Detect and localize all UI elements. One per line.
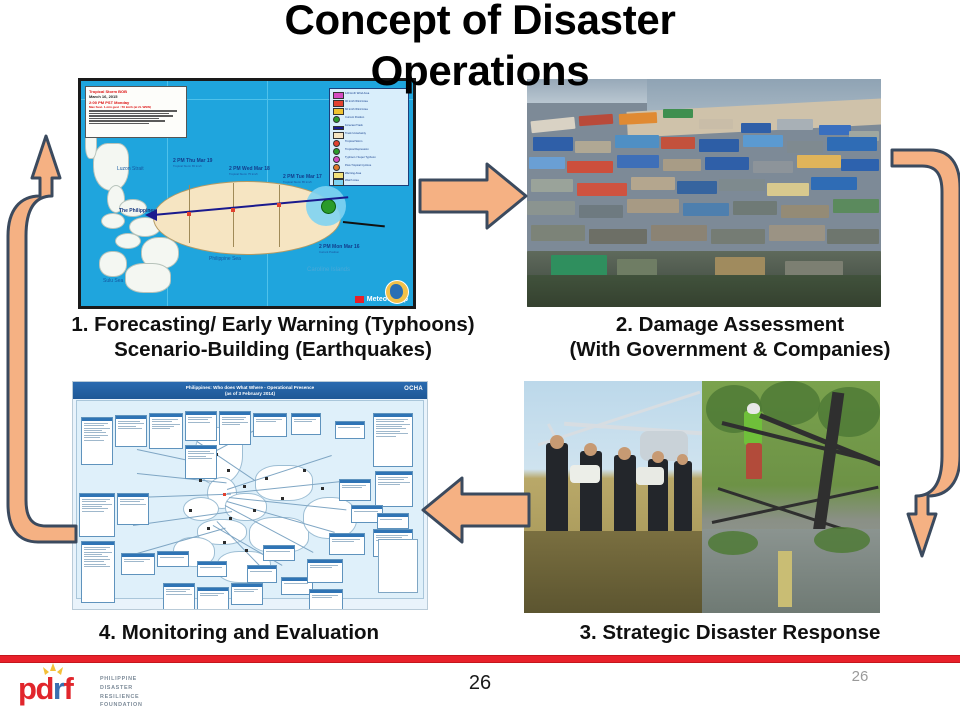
forecast-label-tue: 2 PM Tue Mar 17 Tropical Storm 85 km/h [283,175,322,184]
infographic-box [253,413,287,437]
infographic-box [117,493,149,525]
map-landmass [99,251,127,277]
legend-label: Track Uncertainty [345,132,366,135]
caption-strategic-response: 3. Strategic Disaster Response [520,621,940,646]
relief-sack [636,467,664,485]
legend-label: Tropical Depression [345,148,369,151]
tree-debris [814,527,870,553]
photo-roof [699,139,739,152]
legend-label: Current Position [345,116,364,119]
infographic-box [373,413,413,467]
infographic-box [185,411,217,441]
photo-debris [827,229,879,244]
infographic-box [197,587,229,610]
photo-roof [615,135,659,148]
cone-divider [233,183,234,247]
helicopter-relief-photo [524,381,702,613]
infographic-box [375,471,413,507]
photo-roof [619,112,658,125]
map-node [199,479,202,482]
meteogroup-globe-icon [385,280,409,304]
relief-worker-head [550,435,564,449]
infographic-box [307,559,343,583]
relief-worker [614,455,636,535]
forecast-map-image: 2 PM Thu Mar 19 Tropical Storm 65 km/h 2… [78,78,416,309]
geo-label-philippines: The Philippines [119,209,156,215]
relief-worker-head [652,451,664,463]
map-landmass [101,213,125,229]
infographic-box [163,583,195,610]
legend-label: Post-Tropical Cyclone [345,164,371,167]
infographic-box [81,541,115,603]
logo-subtitle-line-4: FOUNDATION [100,701,143,710]
forecast-label-mon: 2 PM Mon Mar 16 Current Position [319,245,360,254]
map-legend: 120 km/h Wind Area 90 km/h Wind Area 60 … [329,88,409,186]
page-title-line-1: Concept of Disaster [0,0,960,45]
map-node [243,485,246,488]
photo-roof [797,155,841,168]
infographic-box [329,533,365,555]
map-landmass [125,263,171,293]
footer-divider [0,655,960,663]
caption-line-1: 2. Damage Assessment [520,313,940,338]
photo-roof [631,177,675,190]
photo-roof [811,177,857,190]
infographic-box [309,589,343,610]
relief-worker-head [618,447,631,460]
photo-roof [733,201,777,215]
relief-worker [546,443,568,535]
caption-forecasting: 1. Forecasting/ Early Warning (Typhoons)… [28,313,518,362]
photo-roof [531,179,573,192]
photo-roof [833,199,879,213]
relief-sack [570,465,600,483]
cone-divider [279,185,280,247]
photo-roof [719,179,765,191]
infographic-box [219,411,251,445]
tree-debris [708,531,758,555]
infographic-box [79,493,115,537]
relief-worker-head [584,443,597,456]
photo-roof [677,181,717,194]
lineman-helmet [747,403,760,414]
photo-roof [743,135,783,147]
legend-label: Forecast Track [345,124,363,127]
legend-label: Tropical Storm [345,140,362,143]
map-node [303,469,306,472]
infographic-box [263,545,295,561]
photo-roof [753,161,793,173]
track-position-tick [277,203,281,207]
map-node [207,527,210,530]
infographic-box [149,413,183,449]
map-node [223,541,226,544]
infographic-header-line-2: (as of 3 February 2014) [73,391,427,397]
photo-roof [699,119,733,129]
infographic-box [377,513,409,529]
map-landmass [115,233,141,249]
legend-label: Typhoon / Super Typhoon [345,156,376,159]
infographic-box [157,551,189,567]
infographic-canvas [76,400,424,599]
infographic-box [185,445,217,479]
arrow-response-to-monitoring [420,472,532,548]
slide-canvas: Concept of Disaster Operations [0,0,960,720]
damage-assessment-image [527,79,881,307]
map-node [229,517,232,520]
map-node-highlight [223,493,226,496]
photo-roof [767,183,809,196]
photo-debris [769,225,825,241]
relief-worker [580,451,602,537]
caption-damage-assessment: 2. Damage Assessment (With Government & … [520,313,940,362]
infographic-box [291,413,321,435]
ocha-logo: OCHA [404,386,423,394]
photo-roof [527,201,575,215]
infographic-header: Philippines: Who does What Where - Opera… [73,382,427,399]
road-marking [778,551,792,607]
lineman-legs [746,443,762,479]
disaster-response-image [524,381,880,613]
map-node [321,487,324,490]
power-line-clearing-photo [702,381,880,613]
photo-roof [663,109,693,118]
page-number-right: 26 [830,668,890,685]
ground [524,531,702,613]
geo-label-luzon-strait: Luzon Strait [117,167,144,173]
infographic-box [197,561,227,577]
infographic-box [247,565,277,583]
photo-roof [567,161,613,173]
meteogroup-logo-mark [355,296,364,303]
infographic-box [115,415,147,447]
geo-label-caroline-islands: Caroline Islands [307,267,350,274]
geo-label-sulu-sea: Sulu Sea [103,279,123,285]
infographic-box [81,417,113,465]
map-node [281,497,284,500]
photo-roof [577,183,627,196]
relief-worker [674,461,692,531]
caption-line-2: (With Government & Companies) [520,338,940,363]
map-node [253,509,256,512]
legend-label: Watch Area [345,179,359,182]
monitoring-map-image: Philippines: Who does What Where - Opera… [72,381,428,610]
caption-line-1: 4. Monitoring and Evaluation [34,621,444,646]
photo-roof [579,205,623,218]
page-title: Concept of Disaster Operations [0,0,960,96]
photo-roof [683,203,729,216]
infographic-box [339,479,371,501]
photo-roof [663,159,701,171]
photo-roof [741,123,771,133]
caption-line-1: 1. Forecasting/ Early Warning (Typhoons) [28,313,518,338]
infographic-box [121,553,155,575]
photo-vegetation [527,275,881,307]
infographic-inset-map [378,539,418,593]
photo-roof [529,157,565,169]
relief-worker-head [677,454,688,465]
photo-roof [627,199,679,213]
photo-roof [533,137,573,151]
current-position-marker [321,199,336,214]
photo-roof [661,137,695,149]
photo-roof [617,155,659,168]
photo-roof [787,141,823,153]
photo-debris [531,225,585,241]
legend-label: 90 km/h Wind Area [345,100,368,103]
photo-roof [705,157,749,170]
photo-roof [575,141,611,153]
photo-roof [530,117,575,134]
forecast-label-thu: 2 PM Thu Mar 19 Tropical Storm 65 km/h [173,159,212,168]
photo-roof [819,125,851,135]
caption-monitoring-evaluation: 4. Monitoring and Evaluation [34,621,444,646]
map-node [189,509,192,512]
forecast-label-wed: 2 PM Wed Mar 18 Tropical Storm 75 km/h [229,167,270,176]
photo-roof [777,119,813,130]
photo-building [551,255,607,277]
photo-roof [781,205,829,218]
legend-label: 60 km/h Wind Area [345,108,368,111]
caption-line-2: Scenario-Building (Earthquakes) [28,338,518,363]
photo-debris [711,229,765,244]
photo-roof [841,159,879,171]
map-node [245,549,248,552]
photo-roof [827,137,877,151]
page-number-center: 26 [0,672,960,695]
infographic-box [335,421,365,439]
downed-power-line [712,486,879,524]
page-title-line-2: Operations [0,45,960,96]
track-position-tick [187,212,191,216]
map-node [265,477,268,480]
photo-roof [579,114,614,126]
photo-debris [589,229,647,244]
photo-building [715,257,765,277]
infographic-box [231,583,263,605]
caption-line-1: 3. Strategic Disaster Response [520,621,940,646]
track-position-tick [231,208,235,212]
legend-label: Warning Area [345,172,361,175]
geo-label-philippine-sea: Philippine Sea [209,257,241,263]
photo-debris [651,225,707,241]
map-node [227,469,230,472]
arrow-forecast-to-damage [417,158,529,234]
